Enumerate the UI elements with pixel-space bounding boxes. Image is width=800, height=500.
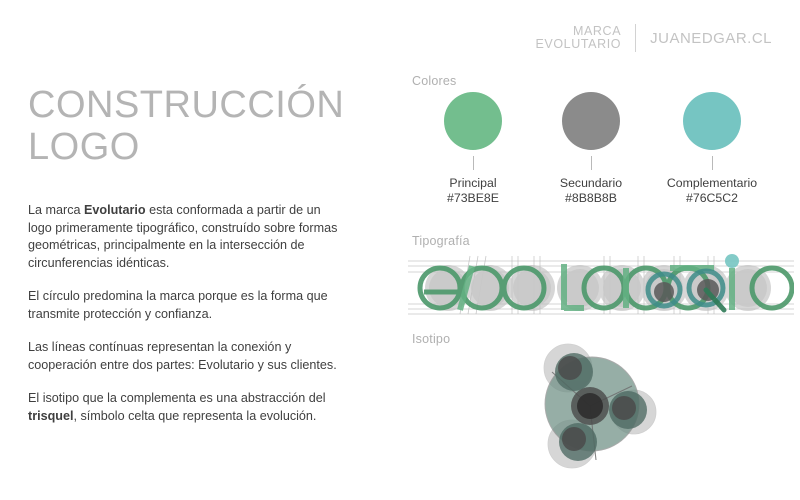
color-swatch-complementario: Complementario #76C5C2	[656, 92, 768, 206]
brand-line-2: EVOLUTARIO	[535, 38, 621, 52]
color-hex-secundario: #8B8B8B	[535, 191, 647, 206]
isotipo-trisquel-figure	[530, 338, 670, 470]
paragraph-2: El círculo predomina la marca porque es …	[28, 288, 346, 323]
paragraph-1: La marca Evolutario esta conformada a pa…	[28, 202, 346, 272]
section-label-colores: Colores	[412, 74, 456, 88]
color-swatch-principal: Principal #73BE8E	[417, 92, 529, 206]
section-label-tipografia: Tipografía	[412, 234, 470, 248]
page-title-line-1: CONSTRUCCIÓN	[28, 84, 344, 126]
color-name-principal: Principal	[417, 176, 529, 191]
site-url: JUANEDGAR.CL	[650, 30, 772, 47]
color-name-secundario: Secundario	[535, 176, 647, 191]
color-dot-principal	[444, 92, 502, 150]
color-dot-complementario	[683, 92, 741, 150]
page-title: CONSTRUCCIÓN LOGO	[28, 84, 373, 168]
paragraph-4: El isotipo que la complementa es una abs…	[28, 390, 346, 425]
header-divider-icon	[635, 24, 636, 52]
color-dot-secundario	[562, 92, 620, 150]
swatch-stem-icon	[591, 156, 592, 170]
typography-construction-figure	[408, 252, 794, 320]
brand-mark: MARCA EVOLUTARIO	[535, 25, 621, 52]
p1-pre: La marca	[28, 203, 84, 217]
p4-post: , símbolo celta que representa la evoluc…	[74, 409, 317, 423]
header: MARCA EVOLUTARIO JUANEDGAR.CL	[535, 24, 772, 52]
color-hex-complementario: #76C5C2	[656, 191, 768, 206]
section-label-isotipo: Isotipo	[412, 332, 450, 346]
body-copy: La marca Evolutario esta conformada a pa…	[28, 202, 346, 425]
p4-pre: El isotipo que la complementa es una abs…	[28, 391, 326, 405]
color-hex-principal: #73BE8E	[417, 191, 529, 206]
page-title-line-2: LOGO	[28, 126, 140, 168]
p1-bold-evolutario: Evolutario	[84, 203, 146, 217]
paragraph-3: Las líneas contínuas representan la cone…	[28, 339, 346, 374]
p4-bold-trisquel: trisquel	[28, 409, 74, 423]
color-name-complementario: Complementario	[656, 176, 768, 191]
brand-line-1: MARCA	[535, 25, 621, 39]
color-swatch-group: Principal #73BE8E Secundario #8B8B8B Com…	[410, 92, 790, 212]
swatch-stem-icon	[712, 156, 713, 170]
swatch-stem-icon	[473, 156, 474, 170]
color-swatch-secundario: Secundario #8B8B8B	[535, 92, 647, 206]
